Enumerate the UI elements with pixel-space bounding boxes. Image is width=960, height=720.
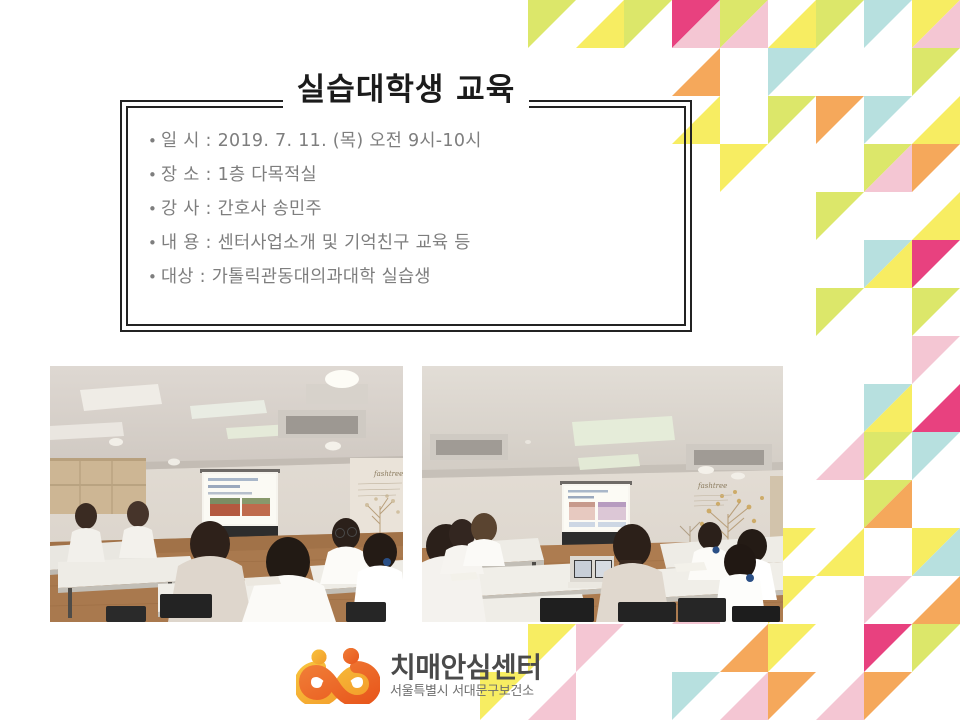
page-title-text: 실습대학생 교육	[283, 72, 529, 108]
decor-triangle	[624, 0, 672, 48]
decor-triangle	[864, 480, 912, 528]
svg-text:fashtree: fashtree	[373, 470, 403, 478]
decor-triangle	[864, 624, 912, 672]
bullet-dot-icon: •	[148, 158, 158, 192]
decor-triangle	[816, 432, 864, 480]
decor-triangle	[816, 528, 864, 576]
bullet-dot-icon: •	[148, 260, 158, 294]
decor-triangle	[528, 0, 576, 48]
logo-text-block: 치매안심센터 서울특별시 서대문구보건소	[390, 653, 542, 700]
list-item-text: 장 소 : 1층 다목적실	[161, 158, 317, 192]
decor-triangle	[816, 0, 864, 48]
decor-triangle	[864, 384, 912, 432]
decor-triangle	[720, 0, 768, 48]
photo-classroom-left: fashtree	[50, 366, 403, 622]
decor-triangle	[912, 384, 960, 432]
list-item: • 일 시 : 2019. 7. 11. (목) 오전 9시-10시	[148, 124, 678, 158]
decor-triangle	[768, 48, 816, 96]
decor-triangle	[912, 48, 960, 96]
decor-triangle	[720, 0, 768, 48]
decor-triangle	[864, 672, 912, 720]
bullet-dot-icon: •	[148, 192, 158, 226]
decor-triangle	[864, 576, 912, 624]
decor-triangle	[912, 576, 960, 624]
decor-triangle	[864, 240, 912, 288]
decor-triangle	[912, 288, 960, 336]
decor-triangle	[912, 96, 960, 144]
decor-triangle	[912, 528, 960, 576]
decor-triangle	[912, 432, 960, 480]
list-item-text: 대상 : 가톨릭관동대의과대학 실습생	[161, 260, 431, 294]
decor-triangle	[864, 432, 912, 480]
decor-triangle	[768, 0, 816, 48]
list-item: • 강 사 : 간호사 송민주	[148, 192, 678, 226]
decor-triangle	[720, 624, 768, 672]
decor-triangle	[864, 0, 912, 48]
decor-triangle	[864, 96, 912, 144]
decor-triangle	[672, 0, 720, 48]
decor-triangle	[816, 192, 864, 240]
bullet-dot-icon: •	[148, 226, 158, 260]
decor-triangle	[672, 0, 720, 48]
list-item: • 내 용 : 센터사업소개 및 기억친구 교육 등	[148, 226, 678, 260]
decor-triangle	[912, 192, 960, 240]
list-item-text: 내 용 : 센터사업소개 및 기억친구 교육 등	[161, 226, 471, 260]
decor-triangle	[576, 0, 624, 48]
decor-triangle	[912, 240, 960, 288]
info-bullet-list: • 일 시 : 2019. 7. 11. (목) 오전 9시-10시 • 장 소…	[148, 124, 678, 294]
decor-triangle	[912, 0, 960, 48]
decor-triangle	[912, 528, 960, 576]
decor-triangle	[720, 672, 768, 720]
svg-text:fashtree: fashtree	[697, 482, 727, 490]
photo-classroom-right: fashtree	[422, 366, 783, 622]
list-item: • 대상 : 가톨릭관동대의과대학 실습생	[148, 260, 678, 294]
decor-triangle	[816, 288, 864, 336]
list-item-text: 강 사 : 간호사 송민주	[161, 192, 322, 226]
decor-triangle	[816, 96, 864, 144]
decor-triangle	[768, 96, 816, 144]
decor-triangle	[720, 144, 768, 192]
decor-triangle	[912, 144, 960, 192]
decor-triangle	[864, 480, 912, 528]
decor-triangle	[816, 672, 864, 720]
decor-triangle	[672, 672, 720, 720]
decor-triangle	[912, 624, 960, 672]
decor-triangle	[912, 0, 960, 48]
decor-triangle	[768, 672, 816, 720]
decor-triangle	[768, 624, 816, 672]
logo-title: 치매안심센터	[390, 653, 542, 683]
decor-triangle	[864, 240, 912, 288]
page-title: 실습대학생 교육	[120, 72, 692, 108]
logo-subtitle: 서울특별시 서대문구보건소	[390, 684, 542, 700]
dementia-center-logo-icon	[296, 648, 380, 704]
bullet-dot-icon: •	[148, 124, 158, 158]
decor-triangle	[864, 144, 912, 192]
decor-triangle	[864, 384, 912, 432]
decor-triangle	[912, 336, 960, 384]
organization-logo: 치매안심센터 서울특별시 서대문구보건소	[296, 645, 596, 707]
list-item: • 장 소 : 1층 다목적실	[148, 158, 678, 192]
decor-triangle	[864, 144, 912, 192]
list-item-text: 일 시 : 2019. 7. 11. (목) 오전 9시-10시	[161, 124, 482, 158]
slide-canvas: 실습대학생 교육 • 일 시 : 2019. 7. 11. (목) 오전 9시-…	[0, 0, 960, 720]
